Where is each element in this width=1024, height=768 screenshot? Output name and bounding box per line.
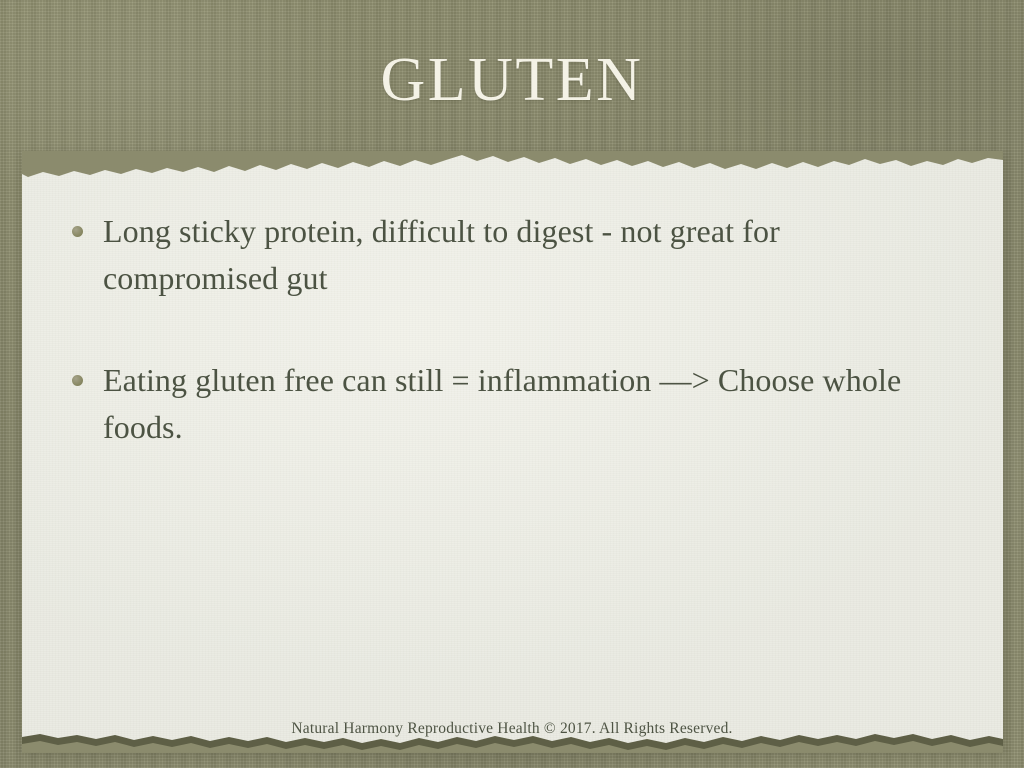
bullet-list: Long sticky protein, difficult to digest… xyxy=(72,208,972,505)
bullet-dot-icon xyxy=(72,226,83,237)
bullet-dot-icon xyxy=(72,375,83,386)
bullet-text: Long sticky protein, difficult to digest… xyxy=(103,208,943,303)
list-item: Eating gluten free can still = inflammat… xyxy=(72,357,972,452)
copyright-footer: Natural Harmony Reproductive Health © 20… xyxy=(0,720,1024,738)
paper-top-torn-edge-icon xyxy=(22,151,1003,185)
presentation-slide: GLUTEN Long sticky protein, difficult to… xyxy=(0,0,1024,768)
bullet-text: Eating gluten free can still = inflammat… xyxy=(103,357,943,452)
torn-paper-panel: Long sticky protein, difficult to digest… xyxy=(22,152,1003,752)
page-title: GLUTEN xyxy=(0,48,1024,113)
list-item: Long sticky protein, difficult to digest… xyxy=(72,208,972,303)
